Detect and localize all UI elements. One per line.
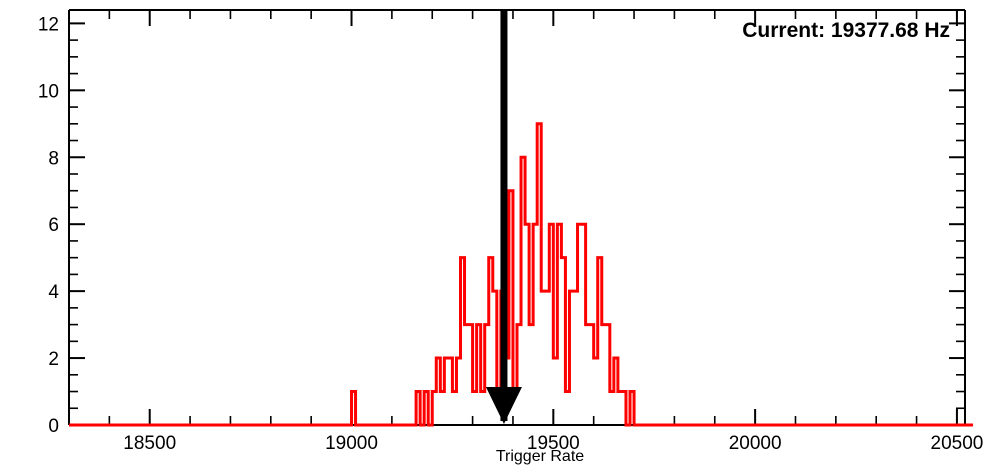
y-tick-label: 0	[48, 416, 59, 437]
y-tick-label: 6	[48, 215, 59, 236]
current-rate-readout: Current: 19377.68 Hz	[742, 19, 950, 42]
y-tick-label: 8	[48, 148, 59, 169]
x-tick-label: 19000	[325, 433, 378, 454]
chart-canvas: 024681012 1850019000195002000020500 Trig…	[0, 0, 996, 472]
x-tick-label: 20000	[729, 433, 782, 454]
y-axis-tick-labels: 024681012	[38, 14, 60, 437]
x-tick-label: 20500	[931, 433, 984, 454]
y-tick-label: 10	[38, 81, 59, 102]
y-tick-label: 2	[48, 349, 59, 370]
y-tick-label: 4	[48, 282, 59, 303]
x-tick-label: 18500	[123, 433, 176, 454]
x-axis-title: Trigger Rate	[496, 448, 584, 465]
y-tick-label: 12	[38, 14, 59, 35]
trigger-rate-histogram: 024681012 1850019000195002000020500 Trig…	[0, 0, 996, 472]
